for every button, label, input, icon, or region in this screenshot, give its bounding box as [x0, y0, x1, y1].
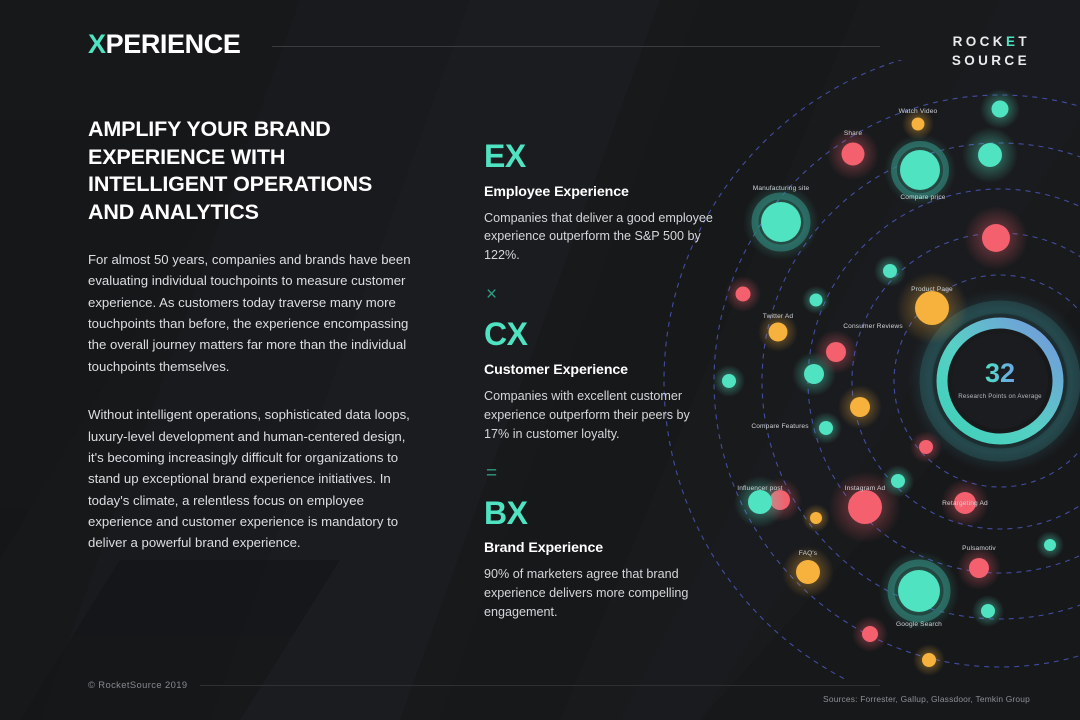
operator-multiply: ×: [486, 285, 714, 304]
metric-desc-ex: Companies that deliver a good employee e…: [484, 209, 714, 266]
footer-divider: [200, 685, 880, 686]
orbit-hub: 32 Research Points on Average: [941, 322, 1059, 440]
metric-block-cx: CX Customer Experience Companies with ex…: [484, 318, 714, 443]
footer-sources: Sources: Forrester, Gallup, Glassdoor, T…: [823, 694, 1030, 704]
orbit-hub-core: 32 Research Points on Average: [955, 336, 1045, 426]
footer-copyright: © RocketSource 2019: [88, 679, 187, 690]
body-paragraph-2: Without intelligent operations, sophisti…: [88, 404, 418, 554]
body-paragraph-1: For almost 50 years, companies and brand…: [88, 249, 418, 377]
hub-research-points-caption: Research Points on Average: [958, 393, 1042, 402]
metric-block-ex: EX Employee Experience Companies that de…: [484, 140, 714, 265]
rocket-post-text: T: [1018, 34, 1030, 49]
left-content-column: AMPLIFY YOUR BRAND EXPERIENCE WITH INTEL…: [88, 116, 418, 554]
metric-code-bx: BX: [484, 497, 714, 531]
page-header: XPERIENCE ROCKET SOURCE: [0, 0, 1080, 86]
logo-x-mark: X: [88, 29, 106, 59]
operator-equals: =: [486, 464, 714, 483]
metric-code-cx: CX: [484, 318, 714, 352]
logo-wordmark: PERIENCE: [106, 29, 241, 59]
metric-title-ex: Employee Experience: [484, 184, 714, 200]
metric-title-bx: Brand Experience: [484, 540, 714, 556]
rocketsource-line-1: ROCKET: [952, 32, 1030, 51]
metric-code-ex: EX: [484, 140, 714, 174]
page-headline: AMPLIFY YOUR BRAND EXPERIENCE WITH INTEL…: [88, 116, 418, 227]
metric-desc-bx: 90% of marketers agree that brand experi…: [484, 565, 714, 622]
rocket-pre-text: ROCK: [953, 34, 1006, 49]
rocketsource-line-2: SOURCE: [952, 51, 1030, 70]
metrics-column: EX Employee Experience Companies that de…: [484, 140, 714, 622]
metric-title-cx: Customer Experience: [484, 362, 714, 378]
header-divider: [272, 46, 880, 47]
rocketsource-logo: ROCKET SOURCE: [952, 32, 1030, 70]
rocket-teal-e: E: [1006, 34, 1018, 49]
xperience-logo: XPERIENCE: [88, 31, 240, 58]
hub-research-points-number: 32: [985, 360, 1015, 387]
metric-block-bx: BX Brand Experience 90% of marketers agr…: [484, 497, 714, 622]
metric-desc-cx: Companies with excellent customer experi…: [484, 387, 714, 444]
